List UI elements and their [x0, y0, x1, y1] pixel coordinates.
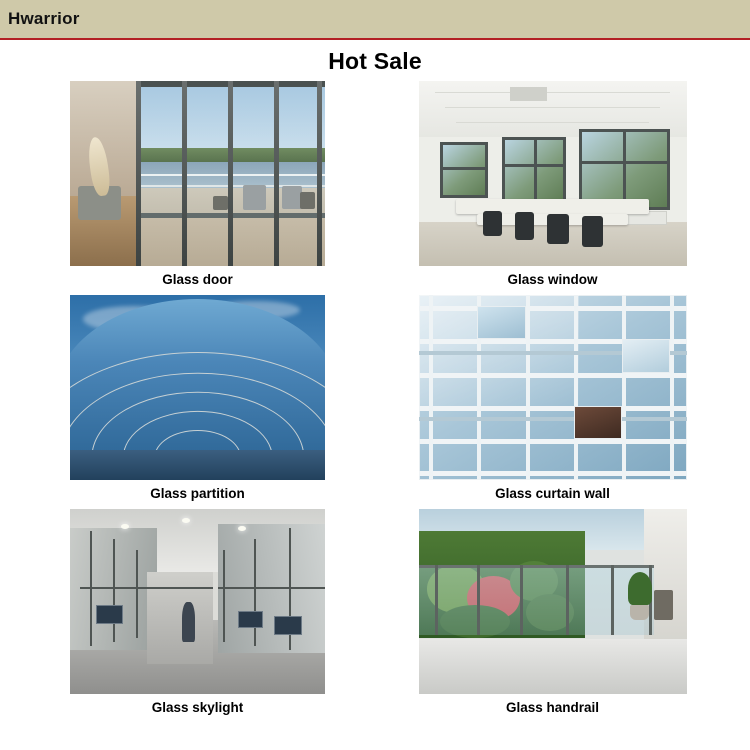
product-caption: Glass skylight	[152, 700, 244, 715]
product-image-glass-skylight	[70, 509, 325, 694]
product-cell-glass-partition[interactable]: Glass partition	[35, 295, 360, 505]
product-showcase-page: Hwarrior Hot Sale	[0, 0, 750, 750]
product-caption: Glass curtain wall	[495, 486, 610, 501]
product-cell-glass-window[interactable]: Glass window	[390, 81, 715, 291]
product-cell-glass-door[interactable]: Glass door	[35, 81, 360, 291]
product-caption: Glass partition	[150, 486, 245, 501]
product-image-glass-partition	[70, 295, 325, 480]
product-image-glass-door	[70, 81, 325, 266]
product-grid: Glass door	[0, 81, 750, 719]
product-caption: Glass window	[507, 272, 597, 287]
product-image-glass-handrail	[419, 509, 687, 694]
product-cell-glass-curtain-wall[interactable]: Glass curtain wall	[390, 295, 715, 505]
product-image-glass-curtain-wall	[419, 295, 687, 480]
product-image-glass-window	[419, 81, 687, 266]
product-cell-glass-handrail[interactable]: Glass handrail	[390, 509, 715, 719]
product-caption: Glass handrail	[506, 700, 599, 715]
header-bar: Hwarrior	[0, 0, 750, 40]
product-cell-glass-skylight[interactable]: Glass skylight	[35, 509, 360, 719]
brand-name: Hwarrior	[0, 9, 80, 29]
product-caption: Glass door	[162, 272, 233, 287]
page-title: Hot Sale	[0, 48, 750, 75]
